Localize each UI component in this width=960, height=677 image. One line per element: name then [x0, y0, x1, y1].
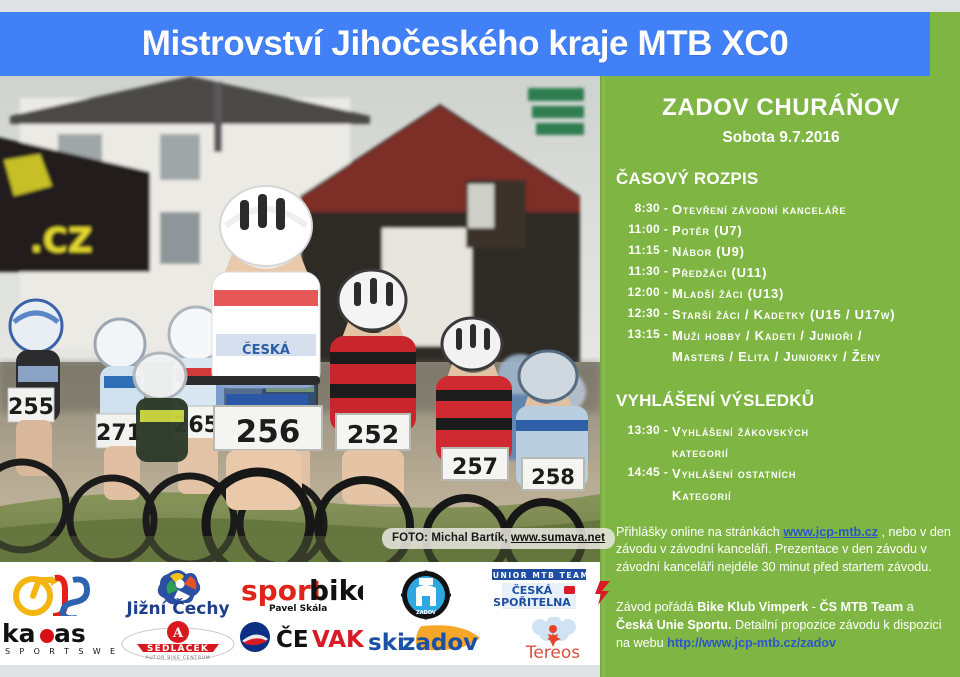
svg-text:JUNIOR MTB TEAM: JUNIOR MTB TEAM	[488, 571, 590, 580]
photo-credit: FOTO: Michal Bartík, www.sumava.net	[382, 528, 615, 549]
svg-text:VAK: VAK	[312, 627, 364, 653]
cus-logo[interactable]	[7, 570, 111, 616]
venue-name: ZADOV CHURÁŇOV	[610, 94, 960, 122]
registration-paragraph: Přihlášky online na stránkách www.jcp-mt…	[616, 524, 952, 578]
organizer-bold-3: Česká Unie Sportu.	[616, 618, 731, 632]
schedule-dash: -	[660, 283, 672, 304]
svg-text:252: 252	[347, 420, 399, 449]
photo-credit-link[interactable]: www.sumava.net	[511, 532, 605, 544]
bottom-gray-strip	[0, 665, 600, 677]
organizer-text-3: a	[903, 600, 914, 614]
svg-text:255: 255	[8, 395, 54, 420]
svg-text:ski: ski	[368, 630, 405, 656]
results-list: 13:30 - Vyhlášení žákovských kategorií 1…	[620, 421, 960, 505]
race-photo-illustration: .CZ 255	[0, 76, 600, 562]
svg-text:AUTOR BIKE CENTRUM: AUTOR BIKE CENTRUM	[146, 655, 211, 661]
schedule-label: Muži hobby / Kadeti / Junioři /	[672, 325, 862, 346]
photo-credit-text: FOTO: Michal Bartík,	[392, 532, 508, 544]
schedule-row: 11:15 - Nábor (U9)	[620, 241, 960, 262]
svg-text:Tereos: Tereos	[525, 643, 580, 661]
sponsor-column-2: Jižní Čechy A SEDLAČEK AUTOR BIKE CENTRU…	[118, 562, 238, 665]
svg-text:ČESKÁ: ČESKÁ	[242, 342, 290, 358]
svg-text:S P O R T S W E A R: S P O R T S W E A R	[5, 647, 118, 656]
kalas-logo[interactable]: ka as S P O R T S W E A R	[0, 618, 118, 658]
schedule-dash: -	[660, 262, 672, 283]
svg-text:as: as	[54, 619, 86, 648]
svg-text:SEDLAČEK: SEDLAČEK	[147, 642, 209, 654]
sponsor-column-4: ZADOV ski zadov	[364, 562, 488, 665]
sponsor-strip: ka as S P O R T S W E A R Jižní Čechy	[0, 562, 600, 665]
poster-root: Mistrovství Jihočeského kraje MTB XC0	[0, 0, 960, 677]
schedule-time: 11:00	[620, 220, 660, 241]
schedule-time: 11:30	[620, 262, 660, 283]
event-date: Sobota 9.7.2016	[610, 129, 960, 147]
schedule-heading: ČASOVÝ ROZPIS	[616, 169, 960, 189]
organizer-bold-1: Bike Klub Vimperk	[697, 600, 808, 614]
schedule-dash: -	[660, 241, 672, 262]
svg-text:258: 258	[531, 465, 575, 489]
svg-text:.CZ: .CZ	[30, 221, 93, 261]
svg-text:ZADOV: ZADOV	[416, 610, 436, 616]
sponsor-column-3: sport bike Pavel Skála ČE VAK	[238, 562, 364, 665]
sportbike-logo[interactable]: sport bike Pavel Skála	[239, 573, 363, 617]
schedule-label: Starší žáci / Kadetky (U15 / U17w)	[672, 304, 895, 325]
schedule-row: 13:15 - Muži hobby / Kadeti / Junioři /	[620, 325, 960, 346]
skizadov-logo[interactable]: ski zadov	[364, 622, 488, 658]
schedule-dash: -	[660, 220, 672, 241]
svg-text:271: 271	[96, 421, 142, 446]
registration-link[interactable]: www.jcp-mtb.cz	[783, 525, 878, 539]
schedule-label: Nábor (U9)	[672, 241, 745, 262]
organizer-paragraph: Závod pořádá Bike Klub Vimperk - ČS MTB …	[616, 599, 952, 653]
schedule-time: 11:15	[620, 241, 660, 262]
svg-text:SPOŘITELNA: SPOŘITELNA	[493, 596, 571, 609]
page-title: Mistrovství Jihočeského kraje MTB XC0	[142, 24, 789, 64]
organizer-text-2: -	[808, 600, 819, 614]
schedule-dash: -	[660, 304, 672, 325]
results-time: 14:45	[620, 463, 660, 484]
top-gray-strip	[0, 0, 960, 12]
schedule-list: 8:30 - Otevření závodní kanceláře 11:00 …	[620, 199, 960, 367]
schedule-row: 11:00 - Potěr (U7)	[620, 220, 960, 241]
results-row: 14:45 - Vyhlášení ostatních	[620, 463, 960, 484]
title-bar: Mistrovství Jihočeského kraje MTB XC0	[0, 12, 930, 76]
svg-text:257: 257	[452, 455, 498, 480]
schedule-row: 12:30 - Starší žáci / Kadetky (U15 / U17…	[620, 304, 960, 325]
results-row: 13:30 - Vyhlášení žákovských	[620, 421, 960, 442]
svg-text:bike: bike	[309, 574, 363, 607]
svg-text:ka: ka	[2, 619, 36, 648]
results-time: 13:30	[620, 421, 660, 442]
schedule-label: Otevření závodní kanceláře	[672, 199, 846, 220]
results-dash: -	[660, 463, 672, 484]
schedule-dash: -	[660, 199, 672, 220]
sponsor-column-5: JUNIOR MTB TEAM ČESKÁ SPOŘITELNA	[488, 562, 618, 665]
schedule-time: 12:30	[620, 304, 660, 325]
schedule-row: 8:30 - Otevření závodní kanceláře	[620, 199, 960, 220]
svg-text:zadov: zadov	[402, 630, 478, 656]
schedule-label: Předžáci (U11)	[672, 262, 767, 283]
zadov-klub-logo[interactable]: ZADOV	[383, 570, 469, 620]
results-dash: -	[660, 421, 672, 442]
registration-text-1: Přihlášky online na stránkách	[616, 525, 783, 539]
results-label: Vyhlášení ostatních	[672, 463, 796, 484]
svg-text:256: 256	[236, 414, 301, 450]
schedule-time: 8:30	[620, 199, 660, 220]
svg-text:ČE: ČE	[276, 625, 309, 653]
schedule-row: 12:00 - Mladší žáci (U13)	[620, 283, 960, 304]
schedule-label: Mladší žáci (U13)	[672, 283, 784, 304]
ceska-sporitelna-logo[interactable]: JUNIOR MTB TEAM ČESKÁ SPOŘITELNA	[488, 567, 618, 615]
svg-text:Jižní Čechy: Jižní Čechy	[125, 597, 229, 618]
svg-text:A: A	[172, 626, 184, 641]
organizer-bold-2: ČS MTB Team	[819, 600, 903, 614]
results-heading: VYHLÁŠENÍ VÝSLEDKŮ	[616, 391, 960, 411]
results-label: Vyhlášení žákovských	[672, 421, 809, 442]
organizer-text-1: Závod pořádá	[616, 600, 697, 614]
schedule-label: Potěr (U7)	[672, 220, 743, 241]
schedule-row: 11:30 - Předžáci (U11)	[620, 262, 960, 283]
jizni-cechy-logo[interactable]: Jižní Čechy	[118, 566, 238, 618]
tereos-logo[interactable]: Tereos	[498, 617, 608, 661]
results-label-continued: Kategorií	[672, 485, 960, 506]
race-photo: .CZ 255	[0, 76, 600, 562]
sponsor-column-1: ka as S P O R T S W E A R	[0, 562, 118, 665]
schedule-dash: -	[660, 325, 672, 346]
sedlacek-logo[interactable]: A SEDLAČEK AUTOR BIKE CENTRUM	[119, 620, 237, 662]
results-label-continued: kategorií	[672, 442, 960, 463]
svg-text:Pavel Skála: Pavel Skála	[269, 604, 327, 614]
schedule-label-continued: Masters / Elita / Juniorky / Ženy	[672, 346, 960, 367]
schedule-time: 12:00	[620, 283, 660, 304]
cevak-logo[interactable]: ČE VAK	[238, 619, 364, 655]
organizer-link[interactable]: http://www.jcp-mtb.cz/zadov	[667, 636, 836, 650]
info-panel: ZADOV CHURÁŇOV Sobota 9.7.2016 ČASOVÝ RO…	[610, 76, 960, 677]
schedule-time: 13:15	[620, 325, 660, 346]
